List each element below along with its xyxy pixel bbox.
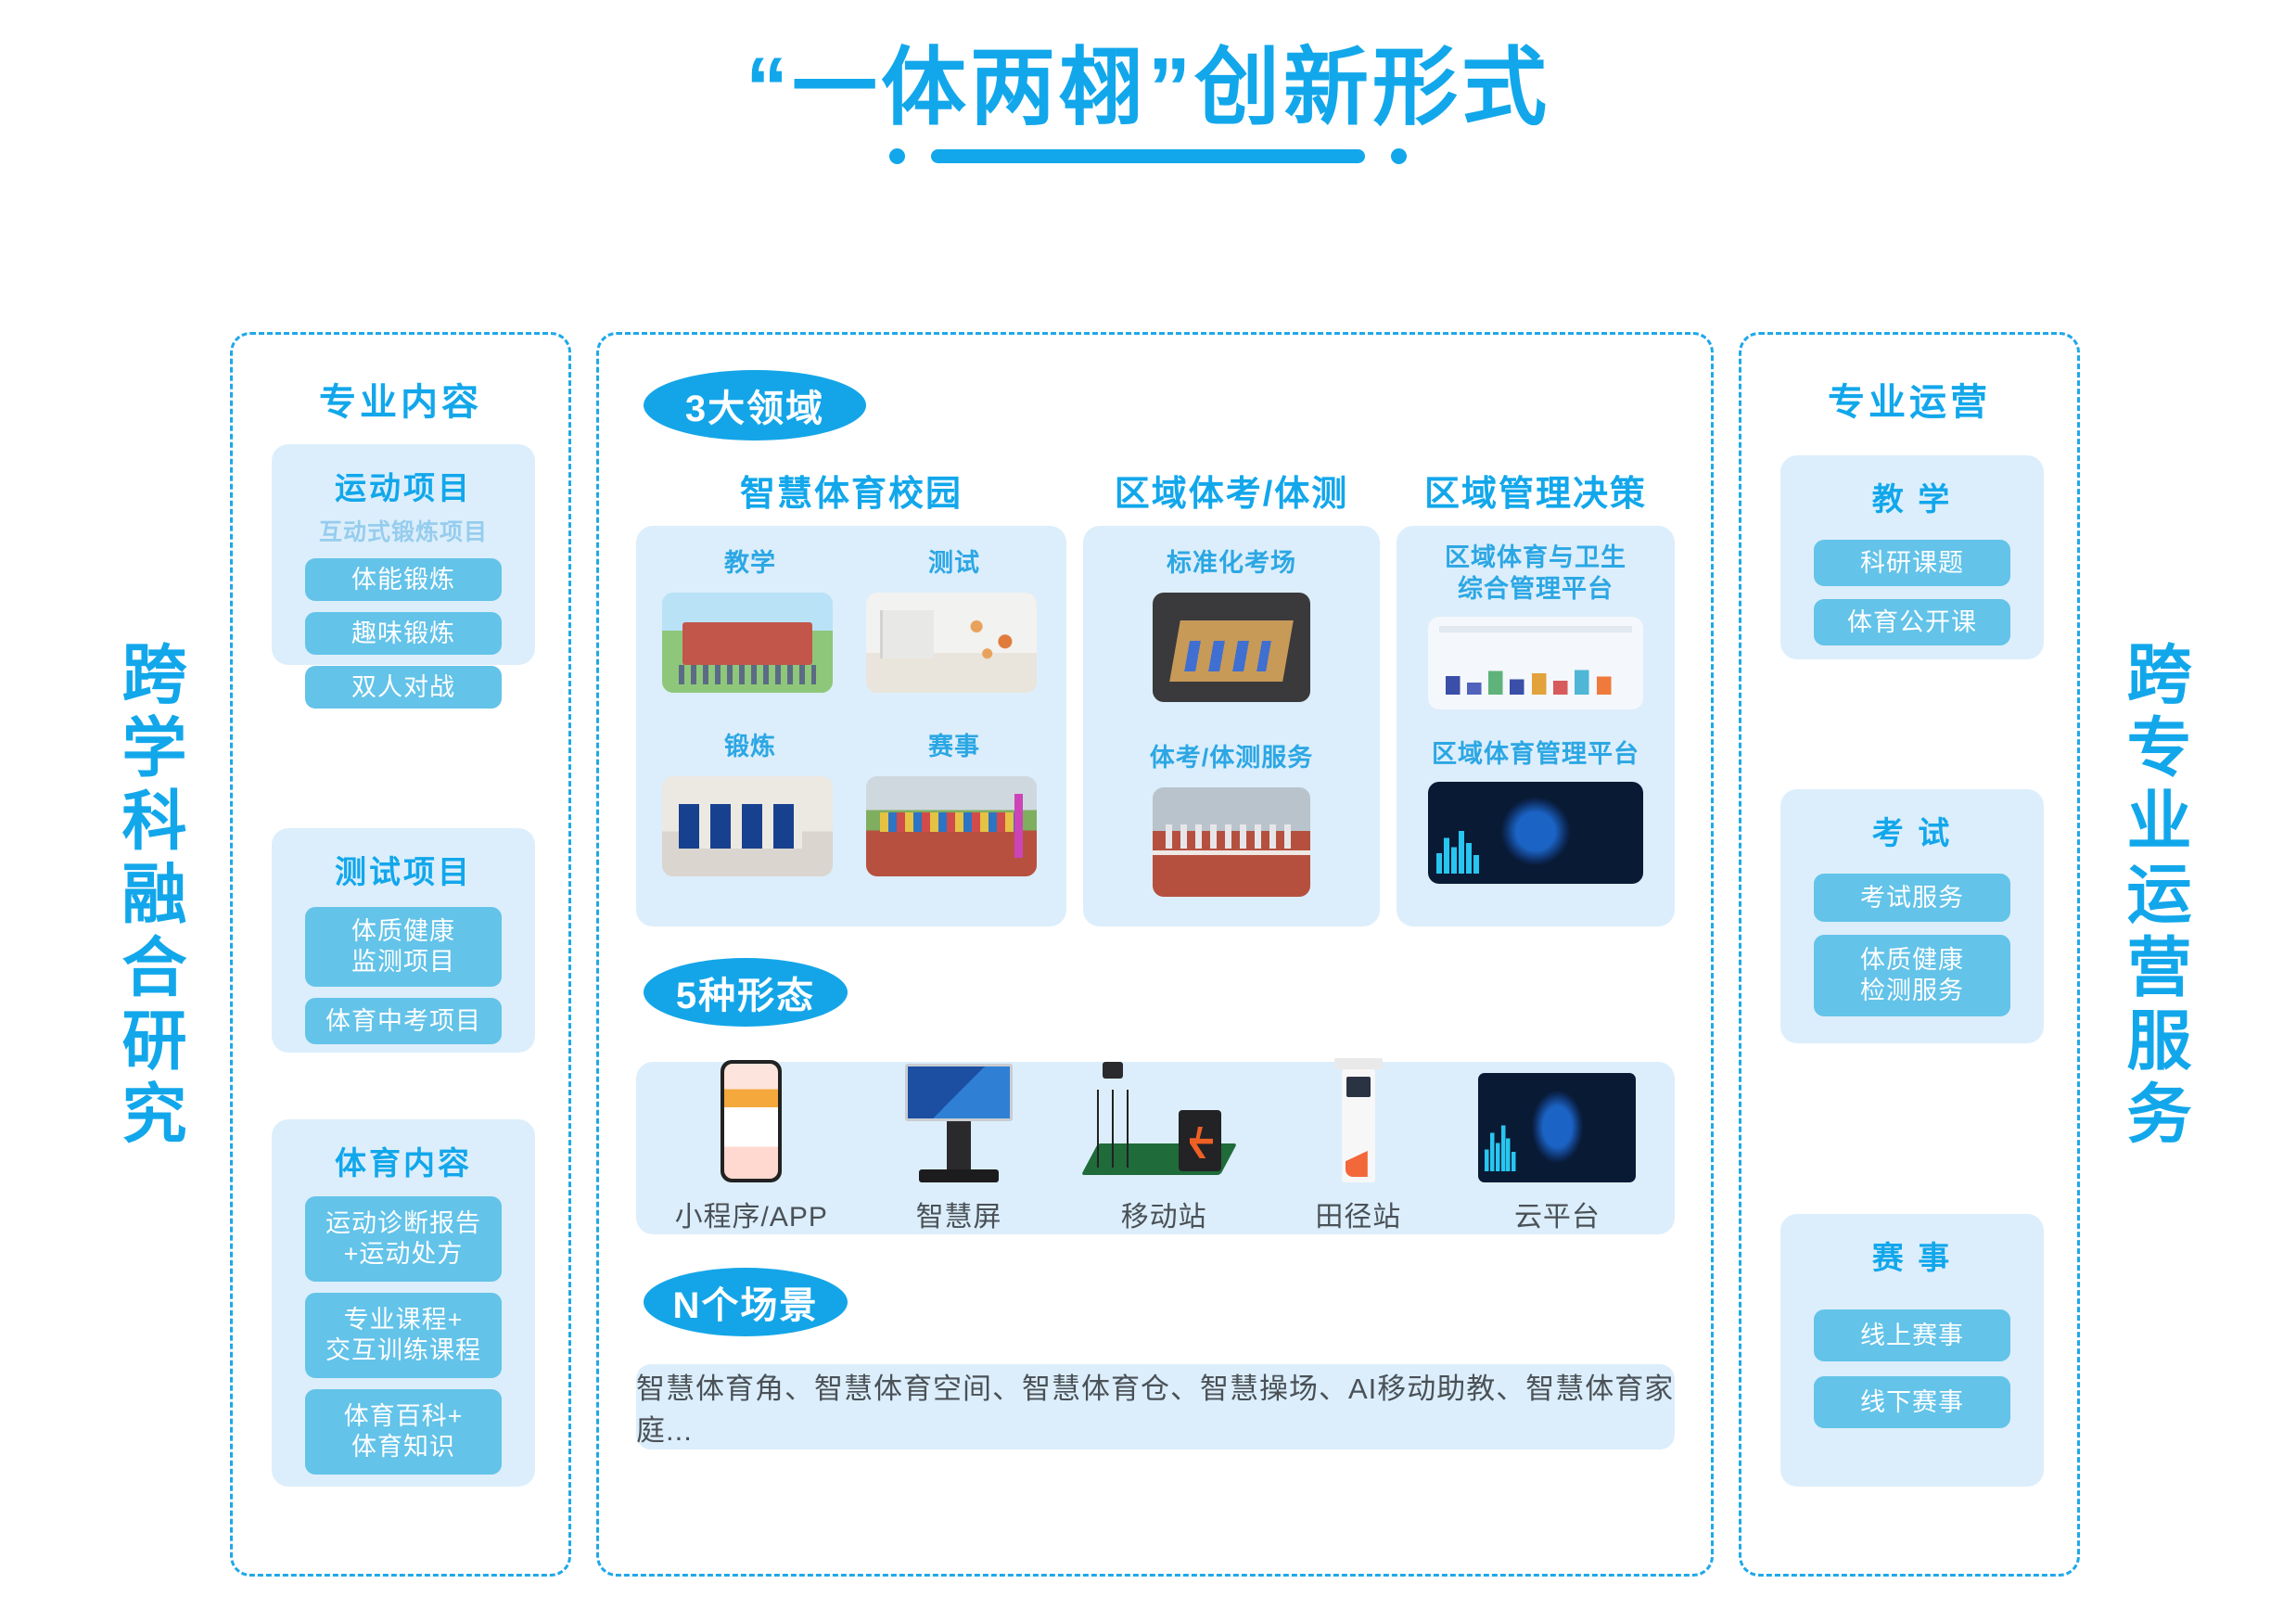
card-title: 考 试 (1780, 789, 2044, 853)
pill-offline-events[interactable]: 线下赛事 (1814, 1376, 2010, 1428)
mobile-station-icon (1090, 1062, 1238, 1182)
thumb-training (662, 776, 833, 876)
cell-label-standard-venue: 标准化考场 (1083, 548, 1380, 580)
card-sports-program: 运动项目 互动式锻炼项目 体能锻炼 趣味锻炼 双人对战 (272, 444, 535, 665)
infographic-page: “一体两翉”创新形式 跨学科融合研究 跨专业运营服务 专业内容 运动项目 互动式… (0, 0, 2296, 1622)
forms-container: 小程序/APP 智慧屏 移动站 田径站 (636, 1062, 1675, 1234)
pill-health-test-service[interactable]: 体质健康 检测服务 (1814, 935, 2010, 1016)
pill-pe-exam-program[interactable]: 体育中考项目 (305, 998, 502, 1044)
domain-box-regional-management: 区域体育与卫生 综合管理平台 区域体育管理平台 (1397, 526, 1675, 926)
form-item-cloud-platform[interactable]: 云平台 (1478, 1073, 1636, 1234)
left-panel: 专业内容 运动项目 互动式锻炼项目 体能锻炼 趣味锻炼 双人对战 测试项目 体质… (230, 332, 571, 1577)
pill-professional-interactive-course[interactable]: 专业课程+ 交互训练课程 (305, 1293, 502, 1378)
thumb-exam-service (1153, 787, 1310, 897)
cell-label-training: 锻炼 (662, 732, 838, 763)
title-underline-decoration (0, 148, 2296, 164)
form-item-smart-screen[interactable]: 智慧屏 (905, 1064, 1013, 1234)
right-vertical-label: 跨专业运营服务 (2122, 640, 2187, 1153)
card-test-program: 测试项目 体质健康 监测项目 体育中考项目 (272, 828, 535, 1053)
deco-dot-right (1391, 148, 1407, 164)
badge-five-forms: 5种形态 (644, 958, 848, 1027)
center-panel: 3大领域 智慧体育校园 教学 测试 锻炼 赛事 区域体考/体测 (596, 332, 1714, 1577)
form-item-mobile-station[interactable]: 移动站 (1090, 1062, 1238, 1234)
card-title: 体育内容 (272, 1119, 535, 1183)
form-item-track-station[interactable]: 田径站 (1315, 1058, 1401, 1234)
card-teaching-ops: 教 学 科研课题 体育公开课 (1780, 455, 2044, 659)
cell-label-testing: 测试 (866, 548, 1042, 580)
pill-pe-encyclopedia-knowledge[interactable]: 体育百科+ 体育知识 (305, 1389, 502, 1475)
page-title: “一体两翉”创新形式 (0, 35, 2296, 142)
pill-physical-training[interactable]: 体能锻炼 (305, 558, 502, 601)
form-label: 小程序/APP (675, 1194, 828, 1234)
track-pillar-icon (1334, 1058, 1383, 1182)
badge-n-scenes: N个场景 (644, 1268, 848, 1336)
thumb-testing (866, 593, 1037, 693)
form-label: 田径站 (1315, 1194, 1401, 1234)
pill-online-events[interactable]: 线上赛事 (1814, 1309, 2010, 1361)
domain-title-smart-campus: 智慧体育校园 (636, 465, 1066, 516)
card-subtitle: 互动式锻炼项目 (272, 514, 535, 547)
cloud-dashboard-icon (1478, 1073, 1636, 1182)
pill-exercise-report-prescription[interactable]: 运动诊断报告 +运动处方 (305, 1196, 502, 1282)
pill-fun-training[interactable]: 趣味锻炼 (305, 612, 502, 655)
cell-label-teaching: 教学 (662, 548, 838, 580)
phone-icon (721, 1060, 782, 1182)
cell-label-sports-platform: 区域体育管理平台 (1397, 739, 1675, 771)
left-vertical-label: 跨学科融合研究 (117, 640, 182, 1153)
card-title: 教 学 (1780, 455, 2044, 519)
badge-three-domains: 3大领域 (644, 370, 866, 441)
cell-label-exam-service: 体考/体测服务 (1083, 743, 1380, 774)
pill-pe-open-class[interactable]: 体育公开课 (1814, 599, 2010, 645)
pill-exam-service[interactable]: 考试服务 (1814, 874, 2010, 922)
form-item-app[interactable]: 小程序/APP (675, 1060, 828, 1234)
pill-duel-battle[interactable]: 双人对战 (305, 666, 502, 709)
left-panel-heading: 专业内容 (233, 372, 568, 426)
card-title: 测试项目 (272, 828, 535, 892)
cell-label-health-platform: 区域体育与卫生 综合管理平台 (1397, 543, 1675, 606)
form-label: 云平台 (1514, 1194, 1601, 1234)
pill-fitness-health-monitoring[interactable]: 体质健康 监测项目 (305, 907, 502, 987)
scenes-text: 智慧体育角、智慧体育空间、智慧体育仓、智慧操场、AI移动助教、智慧体育家庭... (636, 1365, 1675, 1449)
card-title: 运动项目 (272, 444, 535, 508)
right-panel-heading: 专业运营 (1741, 372, 2077, 426)
form-label: 智慧屏 (916, 1194, 1002, 1234)
page-title-wrap: “一体两翉”创新形式 (0, 35, 2296, 142)
card-events-ops: 赛 事 线上赛事 线下赛事 (1780, 1214, 2044, 1487)
deco-bar (931, 149, 1365, 163)
right-panel: 专业运营 教 学 科研课题 体育公开课 考 试 考试服务 体质健康 检测服务 赛… (1739, 332, 2080, 1577)
thumb-sports-platform (1428, 782, 1643, 884)
kiosk-screen-icon (905, 1064, 1013, 1182)
domain-title-regional-management: 区域管理决策 (1397, 465, 1675, 516)
deco-dot-left (889, 148, 905, 164)
form-label: 移动站 (1121, 1194, 1207, 1234)
domain-box-smart-campus: 教学 测试 锻炼 赛事 (636, 526, 1066, 926)
card-exam-ops: 考 试 考试服务 体质健康 检测服务 (1780, 789, 2044, 1043)
card-title: 赛 事 (1780, 1214, 2044, 1278)
domain-title-regional-exam: 区域体考/体测 (1083, 465, 1380, 516)
domain-box-regional-exam: 标准化考场 体考/体测服务 (1083, 526, 1380, 926)
card-pe-content: 体育内容 运动诊断报告 +运动处方 专业课程+ 交互训练课程 体育百科+ 体育知… (272, 1119, 535, 1487)
cell-label-competition: 赛事 (866, 732, 1042, 763)
thumb-teaching (662, 593, 833, 693)
scenes-container: 智慧体育角、智慧体育空间、智慧体育仓、智慧操场、AI移动助教、智慧体育家庭... (636, 1364, 1675, 1450)
thumb-competition (866, 776, 1037, 876)
thumb-standard-venue (1153, 593, 1310, 702)
pill-research-topic[interactable]: 科研课题 (1814, 540, 2010, 586)
thumb-health-platform (1428, 617, 1643, 709)
